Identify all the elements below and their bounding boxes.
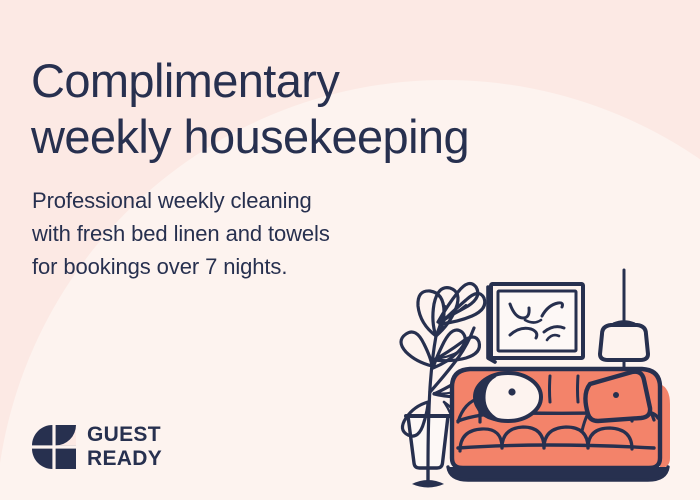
living-room-illustration (392, 262, 692, 500)
guestready-mark-icon (32, 425, 76, 469)
brand-word-ready: READY (87, 448, 162, 469)
brand-logo: GUEST READY (32, 424, 162, 469)
promo-card: Complimentary weekly housekeeping Profes… (0, 0, 700, 500)
subcopy: Professional weekly cleaning with fresh … (32, 184, 452, 283)
headline: Complimentary weekly housekeeping (31, 53, 631, 165)
sleeping-cat-nose (508, 388, 515, 395)
card-content: Complimentary weekly housekeeping Profes… (0, 0, 700, 500)
throw-pillow-dot (613, 392, 619, 398)
brand-wordmark: GUEST READY (87, 424, 162, 469)
living-room-scene-icon (392, 262, 692, 500)
sofa-base-shadow (448, 467, 668, 480)
brand-word-guest: GUEST (87, 424, 162, 445)
